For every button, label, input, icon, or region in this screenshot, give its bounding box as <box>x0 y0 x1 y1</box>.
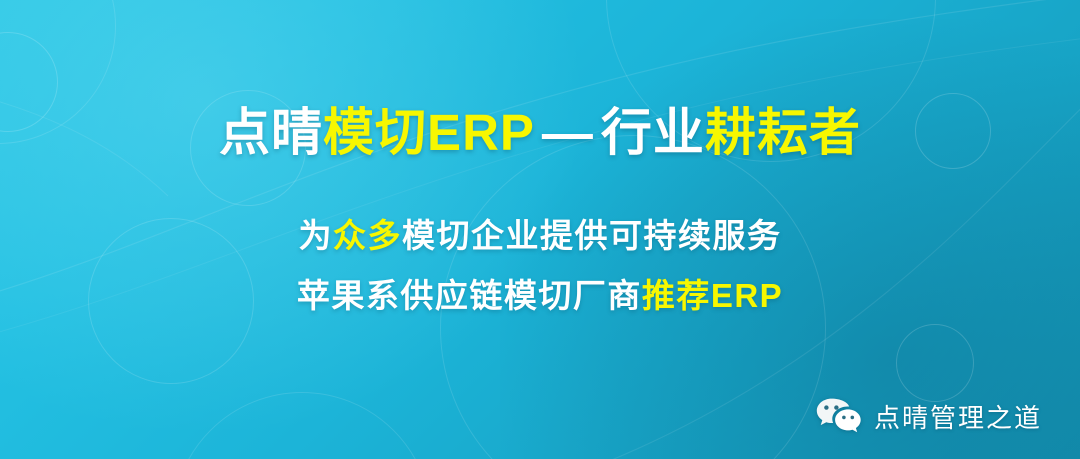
promo-banner: 点晴模切ERP—行业耕耘者 为众多模切企业提供可持续服务 苹果系供应链模切厂商推… <box>0 0 1080 459</box>
headline-segment-industry: 行业 <box>601 104 705 161</box>
wechat-logo-icon <box>815 397 863 435</box>
decorative-circle-headline <box>190 90 306 206</box>
decorative-circle-top-right <box>915 93 991 169</box>
subtitle-1-segment-3: 模切企业提供可持续服务 <box>402 217 782 254</box>
decorative-circle-top-wide <box>606 0 936 162</box>
headline-segment-cultivator: 耕耘者 <box>705 104 861 161</box>
page-title: 点晴模切ERP—行业耕耘者 <box>219 104 861 161</box>
subtitle-line-1: 为众多模切企业提供可持续服务 <box>297 219 783 252</box>
wechat-badge[interactable]: 点晴管理之道 <box>815 397 1042 435</box>
subtitle-block: 为众多模切企业提供可持续服务 苹果系供应链模切厂商推荐ERP <box>297 219 783 312</box>
decorative-circle-outer-top-left <box>0 0 116 144</box>
subtitle-1-segment-highlight: 众多 <box>333 217 402 254</box>
background-sheen-bottom-right <box>500 19 1080 459</box>
headline-dash: — <box>535 104 601 161</box>
headline-segment-brand: 点晴 <box>219 104 323 161</box>
banner-content: 点晴模切ERP—行业耕耘者 为众多模切企业提供可持续服务 苹果系供应链模切厂商推… <box>0 0 1080 459</box>
decorative-circle-large-center <box>440 135 826 459</box>
decorative-circle-left-mid <box>88 218 254 384</box>
decorative-circle-bottom-right <box>896 324 974 402</box>
decorative-circle-bottom-left <box>172 392 432 459</box>
headline-segment-product: 模切ERP <box>323 104 535 161</box>
decorative-circle-top-left <box>0 32 58 132</box>
subtitle-line-2: 苹果系供应链模切厂商推荐ERP <box>297 279 783 312</box>
decorative-wisp-curves <box>0 0 1080 459</box>
wechat-account-name: 点晴管理之道 <box>874 398 1042 435</box>
background-sheen-top-left <box>0 0 580 430</box>
subtitle-2-segment-highlight: 推荐ERP <box>642 277 783 314</box>
subtitle-1-segment-1: 为 <box>298 217 333 254</box>
subtitle-2-segment-1: 苹果系供应链模切厂商 <box>297 277 642 314</box>
